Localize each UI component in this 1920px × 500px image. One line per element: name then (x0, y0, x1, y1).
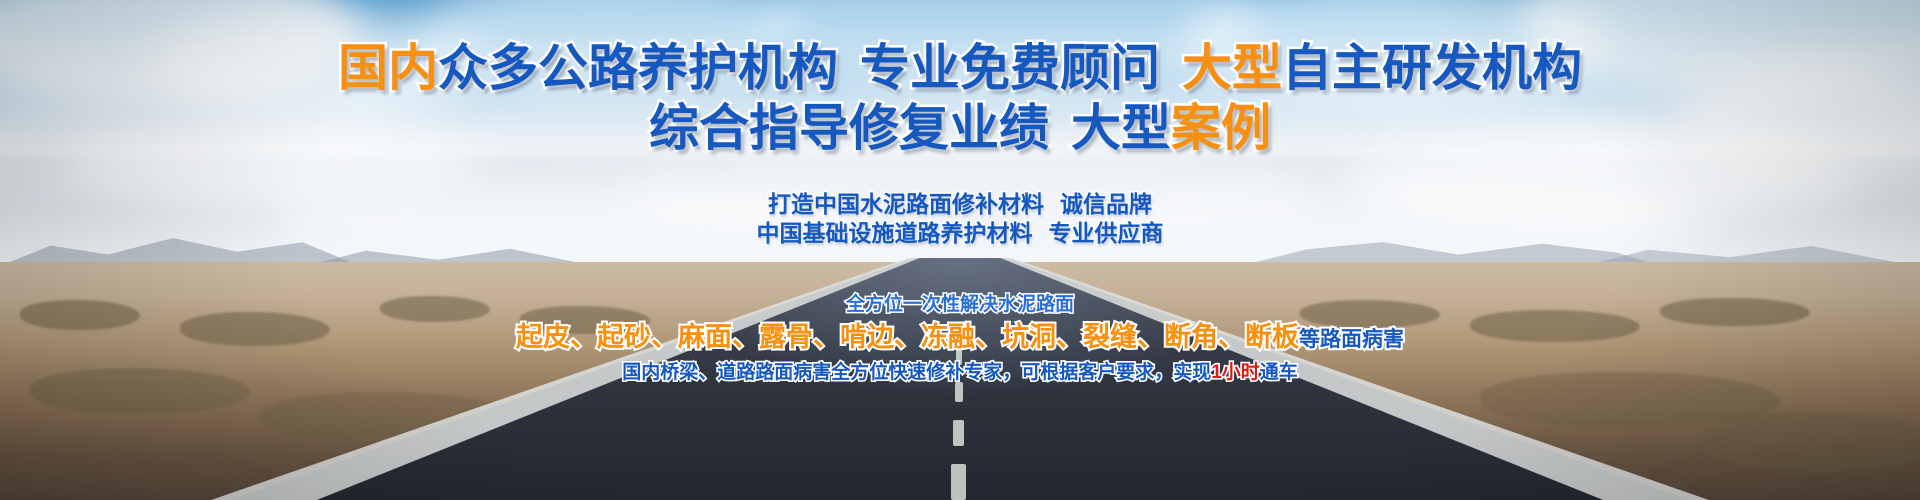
defect-list: 起皮、起砂、麻面、露骨、啃边、冻融、坑洞、裂缝、断角、断板 (516, 322, 1299, 352)
headline-line-1: 国内众多公路养护机构专业免费顾问大型自主研发机构 (0, 38, 1920, 98)
sub-l1-seg2: 诚信品牌 (1060, 191, 1152, 217)
headline-l1-seg4: 免费顾问 (960, 40, 1160, 96)
headline-l1-seg6: 自主研发机构 (1282, 40, 1582, 96)
subheading-block: 打造中国水泥路面修补材料诚信品牌 中国基础设施道路养护材料专业供应商 (0, 190, 1920, 248)
sub-l1-seg1: 打造中国水泥路面修补材料 (768, 191, 1044, 217)
headline-l1-seg5: 大型 (1182, 40, 1282, 96)
headline-l2-seg1: 综合指导修复业绩 (649, 100, 1049, 156)
headline-block: 国内众多公路养护机构专业免费顾问大型自主研发机构 综合指导修复业绩大型案例 (0, 38, 1920, 158)
promo-banner: 国内众多公路养护机构专业免费顾问大型自主研发机构 综合指导修复业绩大型案例 打造… (0, 0, 1920, 500)
bottom-l3-seg1: 国内桥梁、道路路面病害全方位快速修补专家，可根据客户要求，实现 (622, 362, 1211, 383)
bottom-line-1: 全方位一次性解决水泥路面 (0, 293, 1920, 317)
bottom-line-2: 起皮、起砂、麻面、露骨、啃边、冻融、坑洞、裂缝、断角、断板等路面病害 (0, 319, 1920, 358)
headline-l1-seg1: 国内 (338, 40, 438, 96)
headline-l1-seg2: 众多公路养护机构 (438, 40, 838, 96)
headline-l2-seg3: 案例 (1171, 100, 1271, 156)
bottom-l3-highlight: 1小时 (1211, 362, 1260, 383)
banner-text-layer: 国内众多公路养护机构专业免费顾问大型自主研发机构 综合指导修复业绩大型案例 打造… (0, 0, 1920, 500)
subheading-line-1: 打造中国水泥路面修补材料诚信品牌 (0, 190, 1920, 219)
defect-list-suffix: 等路面病害 (1299, 328, 1404, 351)
headline-line-2: 综合指导修复业绩大型案例 (0, 98, 1920, 158)
headline-l1-seg3: 专业 (860, 40, 960, 96)
sub-l2-seg2: 专业供应商 (1049, 220, 1164, 246)
bottom-l3-seg2: 通车 (1260, 362, 1298, 383)
subheading-line-2: 中国基础设施道路养护材料专业供应商 (0, 219, 1920, 248)
sub-l2-seg1: 中国基础设施道路养护材料 (757, 220, 1033, 246)
headline-l2-seg2: 大型 (1071, 100, 1171, 156)
bottom-message-block: 全方位一次性解决水泥路面 起皮、起砂、麻面、露骨、啃边、冻融、坑洞、裂缝、断角、… (0, 293, 1920, 386)
bottom-line-3: 国内桥梁、道路路面病害全方位快速修补专家，可根据客户要求，实现1小时通车 (0, 360, 1920, 386)
